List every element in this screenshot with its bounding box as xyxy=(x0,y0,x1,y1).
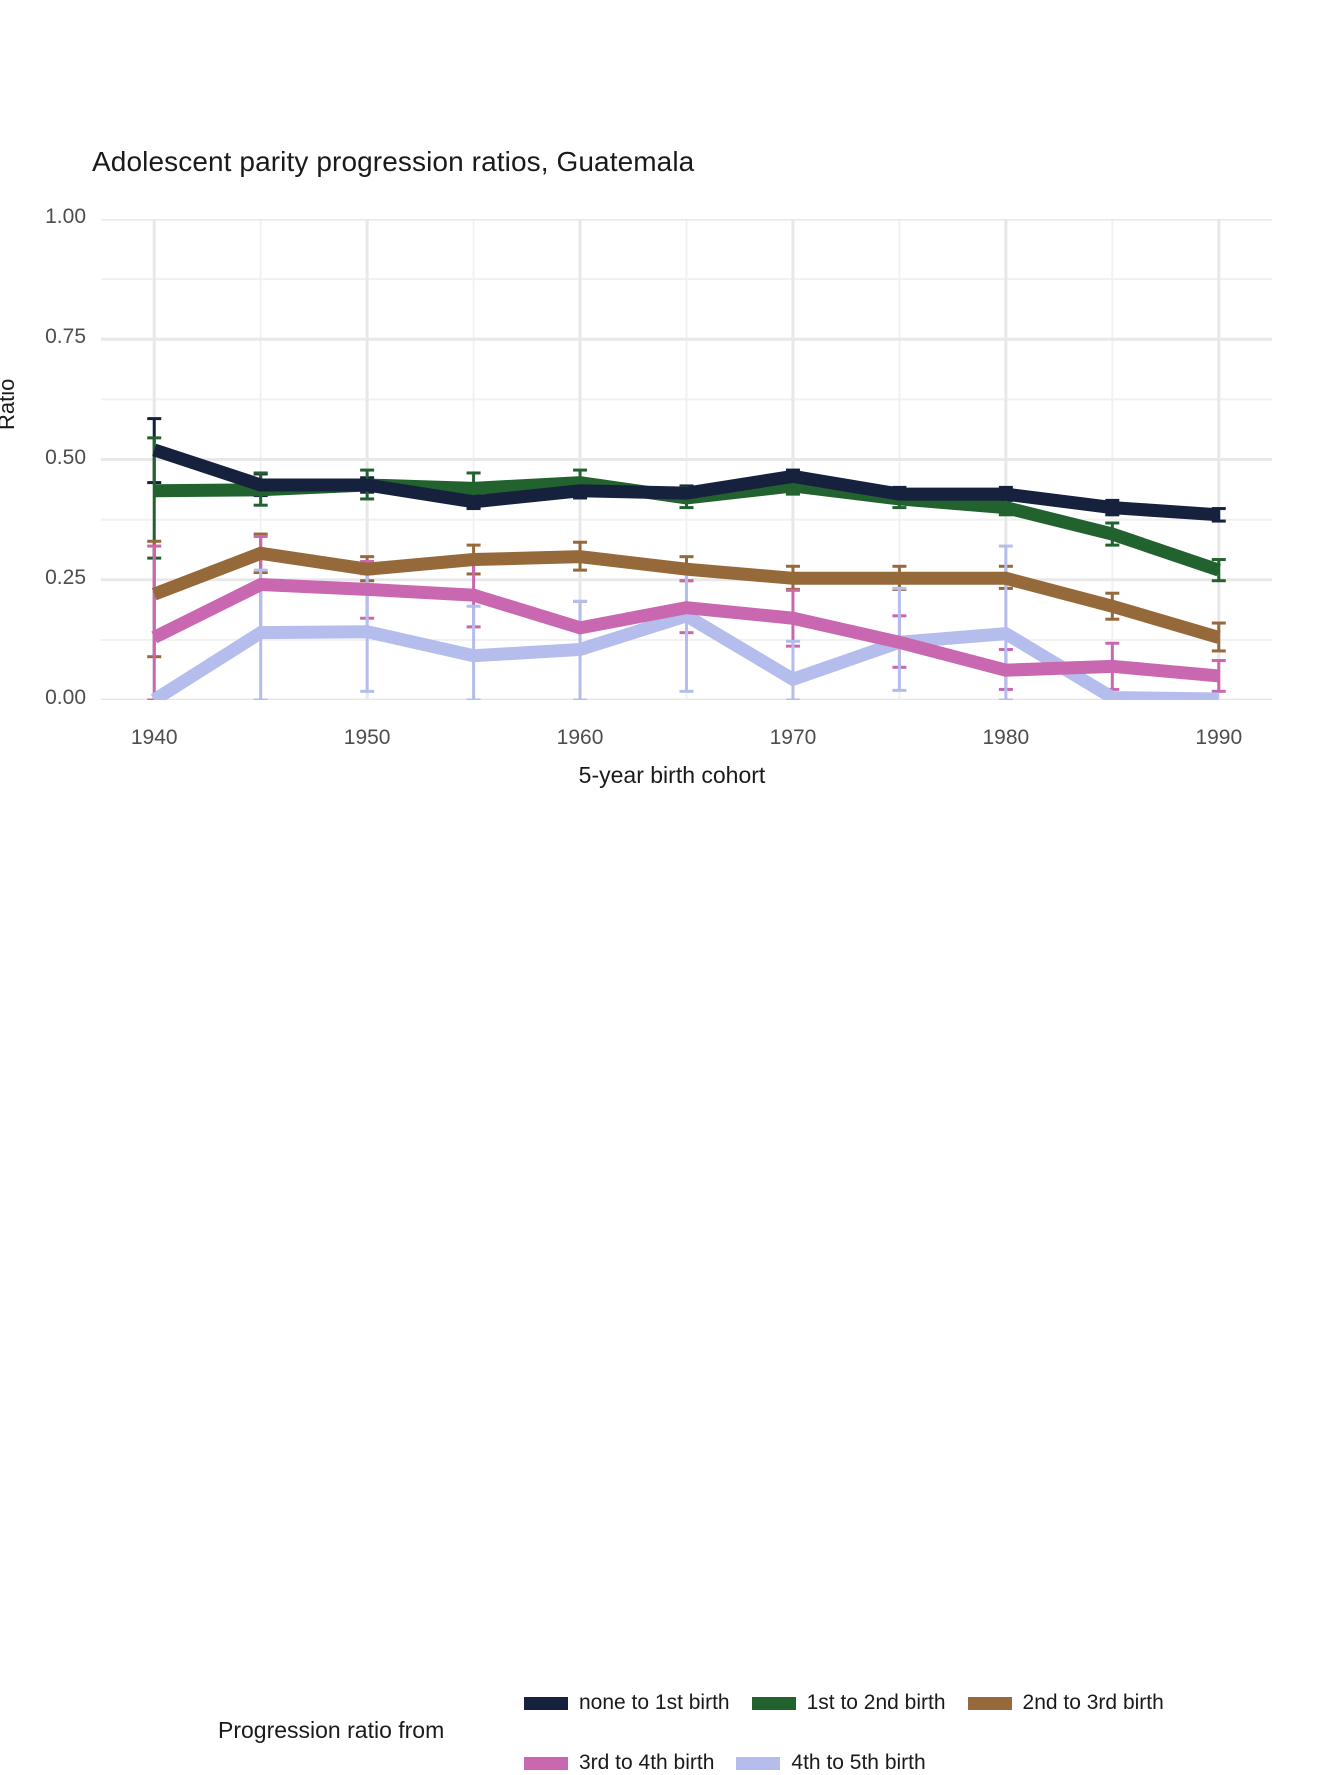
x-tick-label: 1940 xyxy=(131,726,178,750)
y-tick-label: 0.50 xyxy=(45,446,86,470)
x-tick-label: 1990 xyxy=(1195,726,1242,750)
plot-area xyxy=(101,219,1272,700)
y-tick-label: 0.75 xyxy=(45,325,86,349)
y-axis-tick-group: 0.000.250.500.751.00 xyxy=(0,0,86,960)
legend-label: 3rd to 4th birth xyxy=(579,1751,714,1775)
legend-item[interactable]: 1st to 2nd birth xyxy=(752,1691,946,1715)
legend-label: 1st to 2nd birth xyxy=(807,1691,946,1715)
chart-legend: Progression ratio from none to 1st birth… xyxy=(0,840,1344,950)
legend-item[interactable]: 4th to 5th birth xyxy=(736,1751,925,1775)
chart-title: Adolescent parity progression ratios, Gu… xyxy=(92,146,694,178)
y-axis-title: Ratio xyxy=(0,379,20,430)
legend-label: none to 1st birth xyxy=(579,1691,730,1715)
legend-color-swatch-icon xyxy=(752,1697,796,1710)
legend-item[interactable]: 2nd to 3rd birth xyxy=(968,1691,1164,1715)
legend-label: 2nd to 3rd birth xyxy=(1023,1691,1164,1715)
legend-color-swatch-icon xyxy=(524,1697,568,1710)
y-tick-label: 0.00 xyxy=(45,686,86,710)
chart-figure: Adolescent parity progression ratios, Gu… xyxy=(0,0,1344,960)
plot-svg xyxy=(101,219,1272,700)
legend-title: Progression ratio from xyxy=(218,1717,444,1744)
x-tick-label: 1960 xyxy=(557,726,604,750)
y-tick-label: 1.00 xyxy=(45,205,86,229)
legend-row-top: none to 1st birth1st to 2nd birth2nd to … xyxy=(524,1691,1186,1715)
legend-label: 4th to 5th birth xyxy=(791,1751,925,1775)
legend-color-swatch-icon xyxy=(968,1697,1012,1710)
x-tick-label: 1980 xyxy=(983,726,1030,750)
legend-item[interactable]: 3rd to 4th birth xyxy=(524,1751,714,1775)
x-tick-label: 1950 xyxy=(344,726,391,750)
legend-row-bottom: 3rd to 4th birth4th to 5th birth xyxy=(524,1751,948,1775)
legend-color-swatch-icon xyxy=(524,1757,568,1770)
x-axis-title: 5-year birth cohort xyxy=(0,762,1344,789)
y-tick-label: 0.25 xyxy=(45,566,86,590)
legend-color-swatch-icon xyxy=(736,1757,780,1770)
x-tick-label: 1970 xyxy=(770,726,817,750)
legend-item[interactable]: none to 1st birth xyxy=(524,1691,730,1715)
